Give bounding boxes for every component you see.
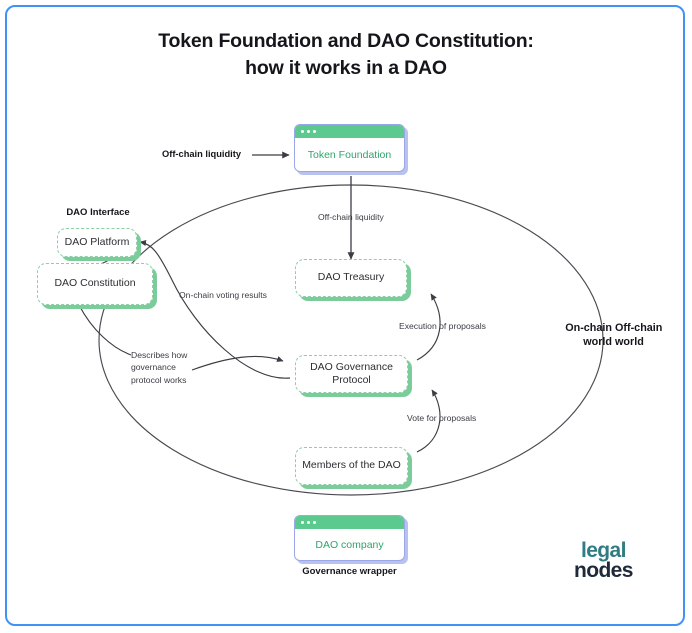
edge-label-offchain-liquidity-down: Off-chain liquidity: [318, 211, 384, 223]
logo-line-1: legal: [574, 541, 633, 561]
node-dao-platform[interactable]: DAO Platform: [57, 228, 137, 257]
window-titlebar: [295, 516, 404, 529]
node-dao-governance-protocol[interactable]: DAO Governance Protocol: [295, 355, 408, 393]
edge-label-execution-of-proposals: Execution of proposals: [399, 320, 486, 332]
caption-governance-wrapper: Governance wrapper: [294, 566, 405, 577]
members-of-the-dao-body: Members of the DAO: [295, 447, 408, 485]
label-on-chain-world: On-chain world: [540, 321, 612, 350]
dao-company-content: DAO company: [295, 529, 404, 560]
label-off-chain-world: Off-chain world: [615, 321, 687, 350]
node-label: DAO Constitution: [54, 277, 135, 290]
diagram-stage: Token Foundation and DAO Constitution: h…: [0, 0, 692, 633]
caption-dao-interface: DAO Interface: [57, 207, 139, 218]
node-dao-constitution[interactable]: DAO Constitution: [37, 263, 153, 305]
legal-nodes-logo: legal nodes: [574, 541, 633, 581]
node-token-foundation[interactable]: Token Foundation: [294, 124, 405, 172]
node-dao-company[interactable]: DAO company: [294, 515, 405, 561]
edge-label-onchain-voting-results: On-chain voting results: [179, 289, 267, 301]
token-foundation-body: Token Foundation: [294, 124, 405, 172]
dao-company-body: DAO company: [294, 515, 405, 561]
edge-describes-how: [79, 305, 131, 355]
node-label: Token Foundation: [308, 149, 391, 161]
edge-label-offchain-liquidity-in: Off-chain liquidity: [162, 148, 241, 161]
node-members-of-the-dao[interactable]: Members of the DAO: [295, 447, 408, 485]
edge-label-describes-how: Describes how governance protocol works: [131, 349, 203, 386]
node-label: DAO Treasury: [318, 271, 385, 284]
token-foundation-content: Token Foundation: [295, 138, 404, 171]
edge-label-vote-for-proposals: Vote for proposals: [407, 412, 476, 424]
node-label: DAO Governance Protocol: [296, 361, 407, 387]
window-dot-icon: [313, 130, 316, 133]
logo-line-2: nodes: [574, 561, 633, 581]
edge-describes-how-tail: [192, 356, 283, 370]
window-dot-icon: [301, 130, 304, 133]
dao-treasury-body: DAO Treasury: [295, 259, 407, 297]
node-label: DAO Platform: [65, 236, 130, 249]
node-dao-treasury[interactable]: DAO Treasury: [295, 259, 407, 297]
window-dot-icon: [313, 521, 316, 524]
dao-constitution-body: DAO Constitution: [37, 263, 153, 305]
dao-governance-protocol-body: DAO Governance Protocol: [295, 355, 408, 393]
window-dot-icon: [307, 130, 310, 133]
node-label: DAO company: [315, 539, 383, 551]
window-dot-icon: [307, 521, 310, 524]
dao-platform-body: DAO Platform: [57, 228, 137, 257]
window-titlebar: [295, 125, 404, 138]
window-dot-icon: [301, 521, 304, 524]
node-label: Members of the DAO: [302, 459, 401, 472]
